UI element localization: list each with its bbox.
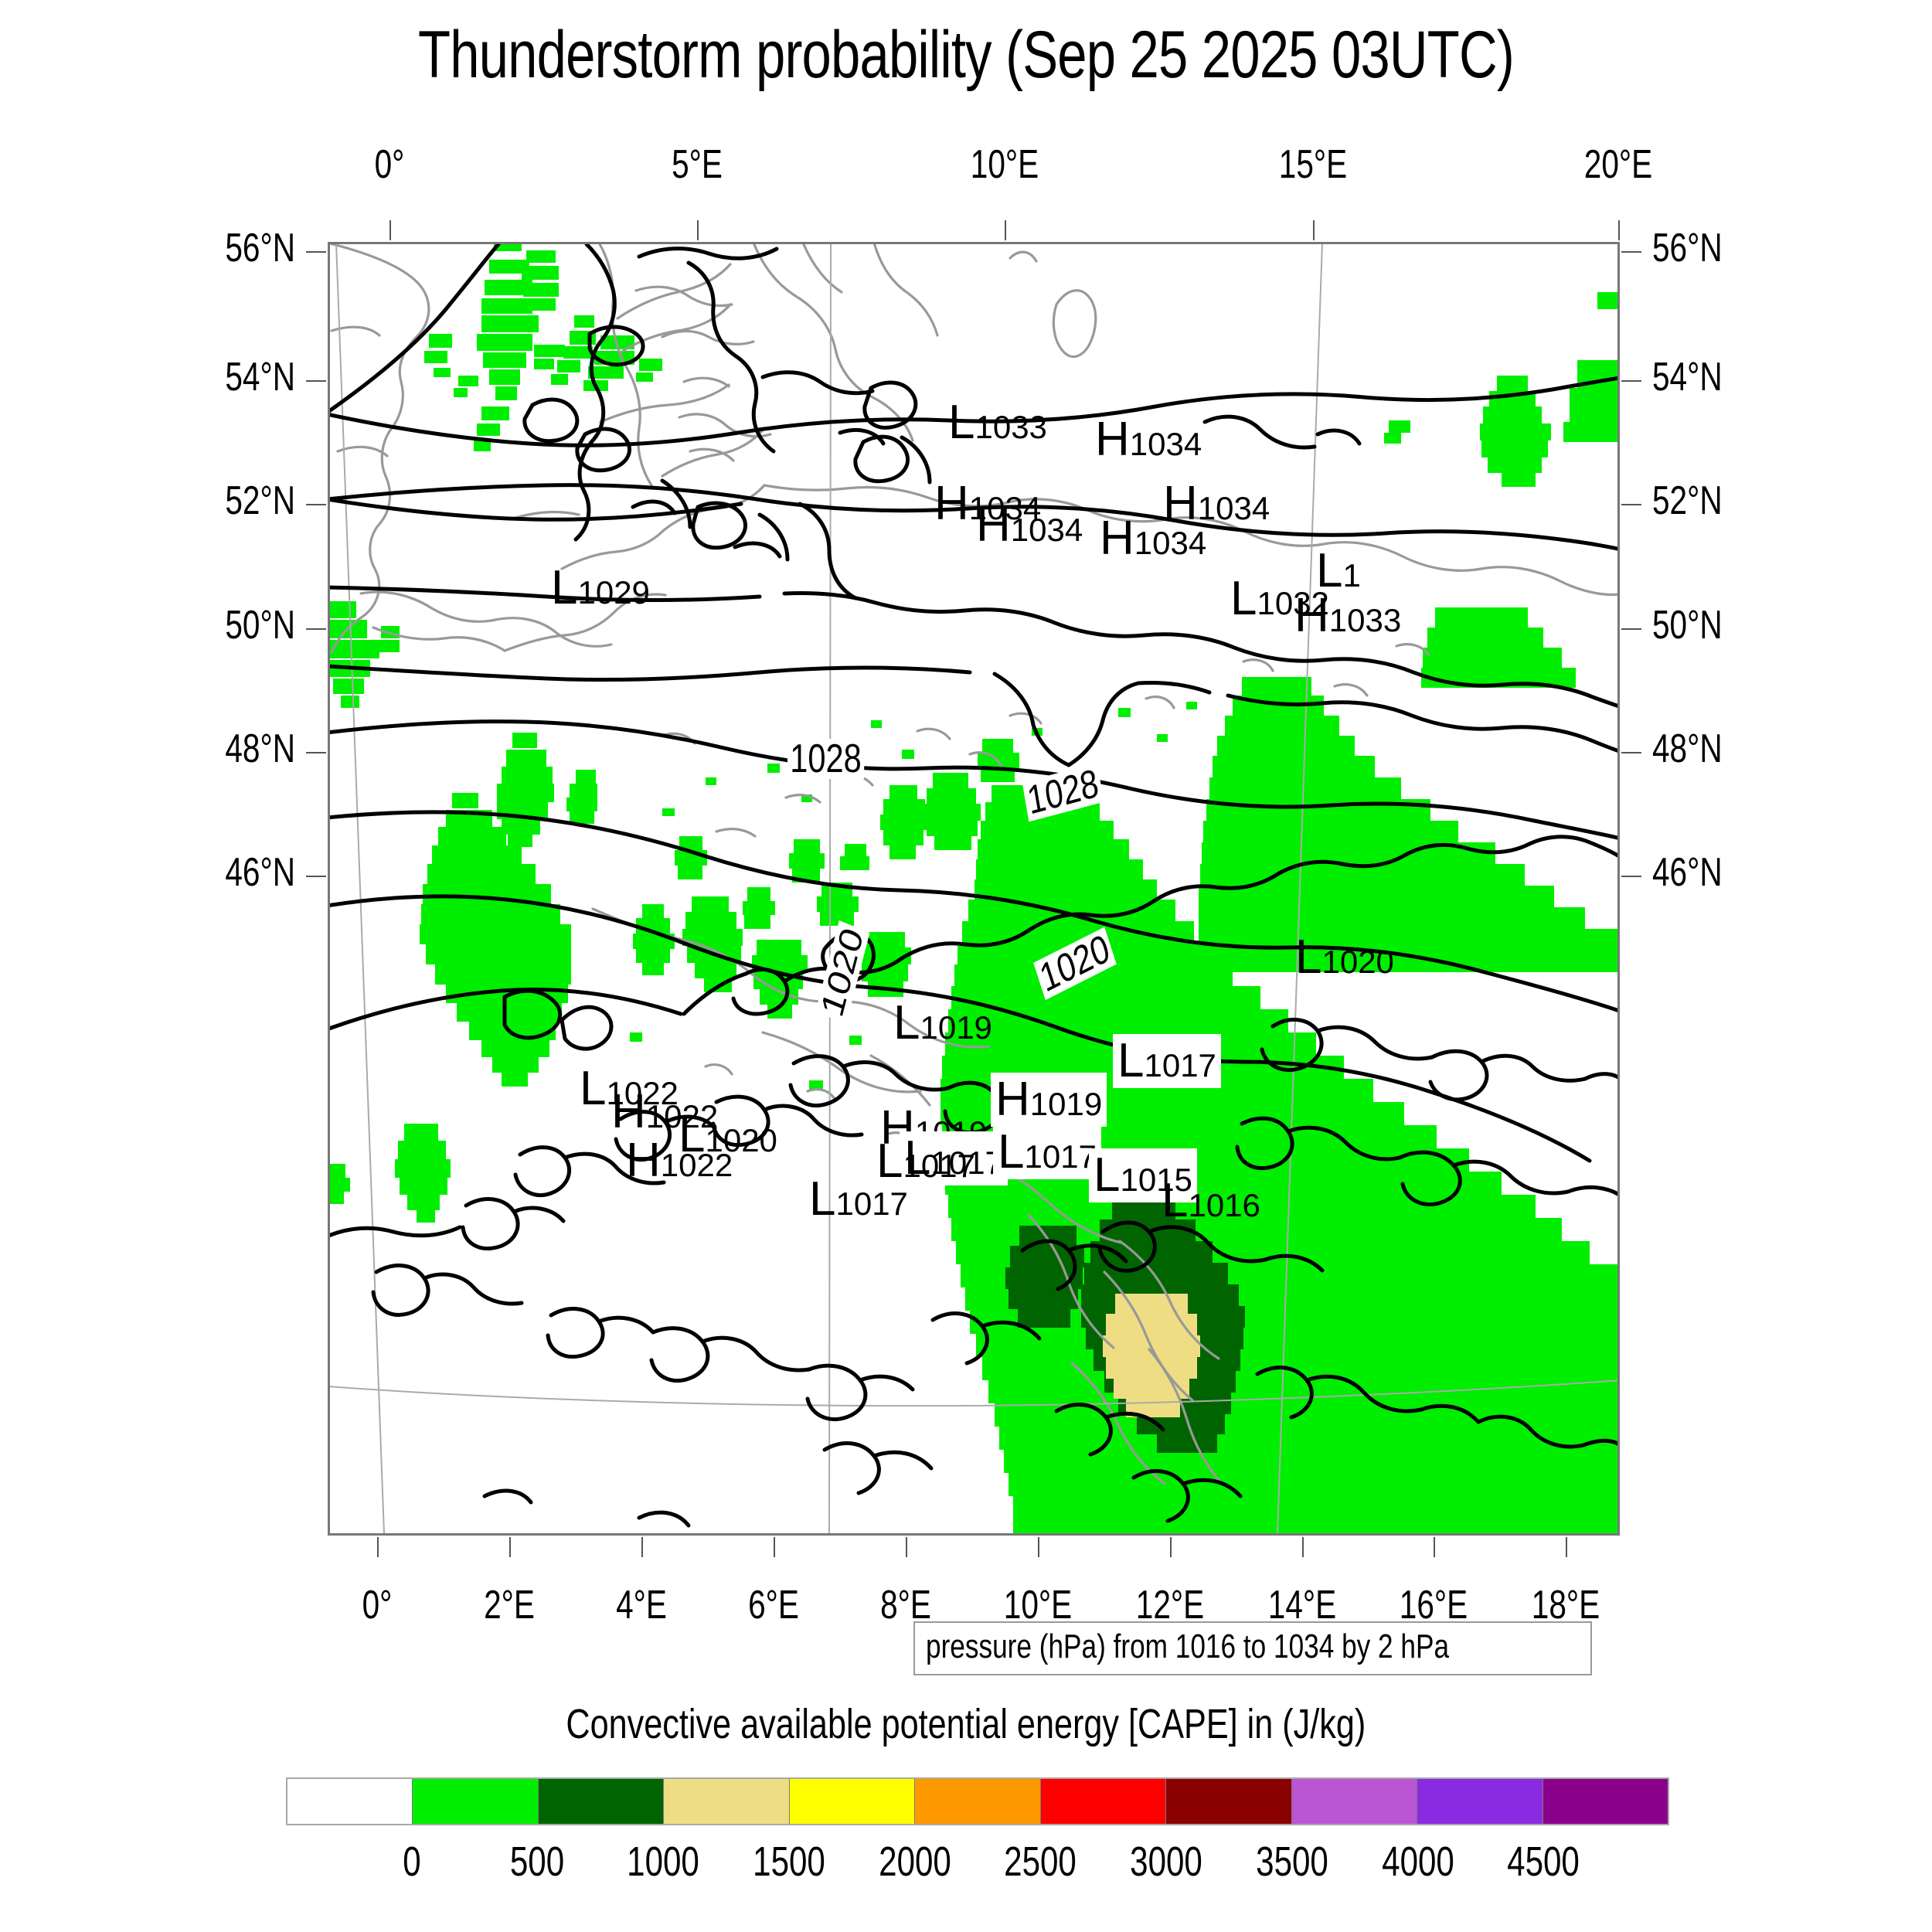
axis-tick [1621, 876, 1641, 877]
axis-tick [306, 628, 326, 630]
axis-tick [774, 1537, 775, 1557]
pressure-marker-kind: H [611, 1085, 646, 1138]
longitude-label-bottom: 0° [311, 1582, 444, 1628]
longitude-label-bottom: 2°E [443, 1582, 576, 1628]
latitude-label-left: 46°N [164, 849, 295, 896]
low-pressure-marker: L1019 [893, 999, 992, 1047]
low-pressure-marker: L1017 [993, 1125, 1101, 1179]
pressure-marker-value: 1033 [975, 409, 1046, 445]
colorbar-tick-label: 3000 [1130, 1838, 1202, 1886]
colorbar-swatch[interactable] [1166, 1779, 1291, 1824]
colorbar-tick-label: 1000 [627, 1838, 699, 1886]
pressure-marker-kind: L [809, 1172, 835, 1226]
low-pressure-marker: L1029 [551, 564, 650, 612]
axis-tick [306, 251, 326, 253]
axis-tick [1566, 1537, 1567, 1557]
longitude-label-top: 5°E [631, 141, 764, 188]
pressure-marker-kind: H [995, 1073, 1030, 1126]
colorbar-swatch[interactable] [1041, 1779, 1166, 1824]
latitude-label-left: 48°N [164, 726, 295, 772]
pressure-marker-value: 1029 [577, 574, 649, 611]
colorbar-swatch[interactable] [790, 1779, 915, 1824]
axis-tick [1302, 1537, 1304, 1557]
pressure-marker-kind: H [934, 477, 969, 530]
colorbar-tick-label: 4500 [1507, 1838, 1580, 1886]
axis-tick [1038, 1537, 1039, 1557]
latitude-label-left: 56°N [164, 225, 295, 271]
pressure-marker-kind: L [1094, 1148, 1120, 1202]
pressure-marker-kind: H [1100, 512, 1134, 565]
low-pressure-marker: L1 [1316, 547, 1361, 595]
pressure-marker-kind: L [998, 1125, 1024, 1179]
colorbar-tick-label: 4000 [1382, 1838, 1454, 1886]
pressure-marker-kind: H [1095, 413, 1130, 466]
axis-tick [306, 380, 326, 382]
colorbar-tick-label: 500 [510, 1838, 564, 1886]
pressure-marker-value: 1034 [1011, 512, 1083, 548]
longitude-label-top: 0° [323, 141, 456, 188]
pressure-marker-value: 1020 [1321, 944, 1393, 980]
pressure-marker-kind: L [948, 396, 975, 449]
colorbar-tick-label: 2500 [1005, 1838, 1077, 1886]
pressure-marker-value: 1019 [1030, 1086, 1102, 1122]
pressure-marker-value: 1 [1342, 557, 1360, 594]
colorbar-tick-labels: 050010001500200025003000350040004500 [286, 1838, 1669, 1892]
pressure-marker-kind: L [1295, 930, 1321, 984]
colorbar-tick-label: 3500 [1256, 1838, 1328, 1886]
colorbar-swatch[interactable] [1417, 1779, 1543, 1824]
latitude-label-right: 56°N [1652, 225, 1791, 271]
pressure-marker-value: 1017 [903, 1148, 975, 1184]
colorbar-swatch[interactable] [539, 1779, 664, 1824]
isobar-value-label: 1028 [787, 739, 864, 779]
latitude-label-right: 54°N [1652, 354, 1791, 400]
longitude-label-bottom: 6°E [707, 1582, 840, 1628]
pressure-marker-value: 1016 [1188, 1187, 1260, 1223]
high-pressure-marker: H1033 [1294, 592, 1401, 640]
pressure-marker-value: 1019 [920, 1009, 992, 1046]
axis-tick [306, 504, 326, 505]
map-panel[interactable]: L1033H1034H1034H1034H1034H1034L1029L1032… [328, 242, 1620, 1536]
axis-tick [389, 220, 391, 240]
low-pressure-marker: L1017 [1113, 1034, 1221, 1088]
axis-tick [697, 220, 699, 240]
axis-tick [377, 1537, 379, 1557]
low-pressure-marker: L1020 [1295, 934, 1394, 981]
latitude-label-right: 48°N [1652, 726, 1791, 772]
page-title: Thunderstorm probability (Sep 25 2025 03… [193, 17, 1739, 94]
axis-tick [1170, 1537, 1172, 1557]
axis-tick [906, 1537, 907, 1557]
low-pressure-marker: L1016 [1162, 1177, 1260, 1225]
pressure-marker-value: 1022 [661, 1147, 733, 1183]
map-frame: L1033H1034H1034H1034H1034H1034L1029L1032… [328, 242, 1620, 1536]
colorbar-swatch[interactable] [1292, 1779, 1417, 1824]
longitude-label-top: 20°E [1553, 141, 1685, 188]
axis-tick [641, 1537, 643, 1557]
pressure-legend: pressure (hPa) from 1016 to 1034 by 2 hP… [913, 1621, 1592, 1675]
colorbar-caption-text: Convective available potential energy [C… [566, 1700, 1366, 1748]
axis-tick [1621, 380, 1641, 382]
low-pressure-marker: L1033 [948, 399, 1047, 447]
pressure-legend-text: pressure (hPa) from 1016 to 1034 by 2 hP… [926, 1628, 1449, 1666]
colorbar-swatch[interactable] [915, 1779, 1040, 1824]
longitude-label-top: 10°E [939, 141, 1072, 188]
pressure-marker-value: 1034 [1130, 426, 1202, 462]
high-pressure-marker: H1034 [1100, 515, 1206, 563]
axis-tick [1434, 1537, 1435, 1557]
pressure-marker-kind: L [1162, 1174, 1188, 1227]
pressure-marker-kind: H [626, 1134, 661, 1187]
high-pressure-marker: H1034 [976, 502, 1083, 549]
axis-tick [1618, 220, 1620, 240]
colorbar-swatch[interactable] [413, 1779, 538, 1824]
axis-tick [509, 1537, 511, 1557]
colorbar-tick-label: 1500 [753, 1838, 825, 1886]
latitude-label-right: 50°N [1652, 602, 1791, 648]
map-figure: Thunderstorm probability (Sep 25 2025 03… [0, 0, 1932, 1932]
high-pressure-marker: H1034 [1095, 416, 1202, 464]
colorbar-tick-label: 2000 [879, 1838, 951, 1886]
axis-tick [1621, 752, 1641, 753]
colorbar-caption: Convective available potential energy [C… [0, 1700, 1932, 1748]
colorbar-tick-label: 0 [403, 1838, 420, 1886]
high-pressure-marker: H1022 [626, 1137, 733, 1185]
colorbar-swatch[interactable] [1543, 1779, 1668, 1824]
pressure-marker-value: 1017 [1144, 1047, 1216, 1083]
latitude-label-left: 54°N [164, 354, 295, 400]
pressure-marker-kind: L [580, 1062, 606, 1115]
colorbar-swatch[interactable] [287, 1779, 413, 1824]
pressure-marker-value: 1033 [1329, 602, 1401, 638]
latitude-label-left: 52°N [164, 478, 295, 524]
pressure-marker-kind: L [551, 561, 577, 614]
axis-tick [1621, 251, 1641, 253]
pressure-marker-kind: L [1316, 544, 1342, 597]
axis-tick [306, 752, 326, 753]
colorbar[interactable] [286, 1777, 1669, 1825]
latitude-label-right: 52°N [1652, 478, 1791, 524]
axis-tick [306, 876, 326, 877]
cape-shading-khaki [1103, 1294, 1200, 1417]
pressure-marker-value: 1017 [835, 1185, 907, 1222]
pressure-marker-value: 1034 [1134, 525, 1206, 561]
longitude-label-top: 15°E [1247, 141, 1379, 188]
axis-tick [1621, 628, 1641, 630]
axis-tick [1005, 220, 1006, 240]
pressure-marker-value: 1034 [1198, 490, 1270, 526]
pressure-marker-value: 1017 [1024, 1138, 1096, 1175]
low-pressure-marker: L1017 [809, 1175, 908, 1223]
pressure-marker-kind: L [1117, 1034, 1144, 1087]
high-pressure-marker: H1019 [991, 1073, 1107, 1127]
longitude-label-bottom: 4°E [575, 1582, 708, 1628]
latitude-label-left: 50°N [164, 602, 295, 648]
axis-tick [1313, 220, 1315, 240]
axis-tick [1621, 504, 1641, 505]
pressure-marker-kind: L [893, 996, 920, 1049]
latitude-label-right: 46°N [1652, 849, 1791, 896]
pressure-marker-kind: H [976, 498, 1011, 552]
colorbar-swatch[interactable] [664, 1779, 789, 1824]
pressure-marker-kind: L [1230, 572, 1257, 625]
